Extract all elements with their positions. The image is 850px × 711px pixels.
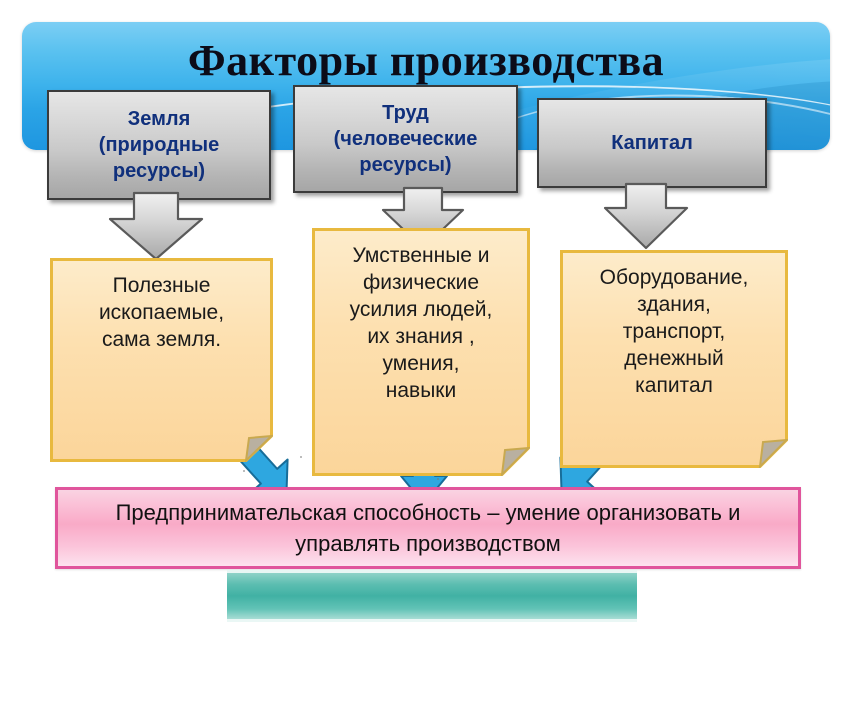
- note-box-land-text: Полезные ископаемые, сама земля.: [60, 268, 263, 353]
- entrepreneurship-box[interactable]: Предпринимательская способность – умение…: [55, 487, 801, 569]
- note-box-capital[interactable]: Оборудование, здания, транспорт, денежны…: [560, 250, 788, 468]
- scan-speck: [437, 478, 439, 480]
- scan-speck: [300, 456, 302, 458]
- factor-box-labor[interactable]: Труд (человеческие ресурсы): [293, 85, 518, 193]
- slide-canvas: Факторы производства Земля (природные ре…: [0, 0, 850, 638]
- scan-speck: [243, 470, 245, 472]
- entrepreneurship-text: Предпринимательская способность – умение…: [72, 497, 784, 559]
- note-box-labor[interactable]: Умственные и физические усилия людей, их…: [312, 228, 530, 476]
- factor-box-capital-label: Капитал: [611, 130, 693, 156]
- factor-box-land-label: Земля (природные ресурсы): [99, 106, 219, 184]
- note-box-capital-text: Оборудование, здания, транспорт, денежны…: [570, 260, 778, 399]
- information-resources-text: Информационные ресурсы: [296, 629, 594, 655]
- factor-box-labor-label: Труд (человеческие ресурсы): [334, 100, 478, 178]
- note-box-land[interactable]: Полезные ископаемые, сама земля.: [50, 258, 273, 462]
- page-title: Факторы производства: [22, 36, 830, 86]
- factor-box-land[interactable]: Земля (природные ресурсы): [47, 90, 271, 200]
- note-box-labor-text: Умственные и физические усилия людей, их…: [322, 238, 520, 404]
- information-resources-box[interactable]: Информационные ресурсы: [227, 570, 637, 622]
- factor-box-capital[interactable]: Капитал: [537, 98, 767, 188]
